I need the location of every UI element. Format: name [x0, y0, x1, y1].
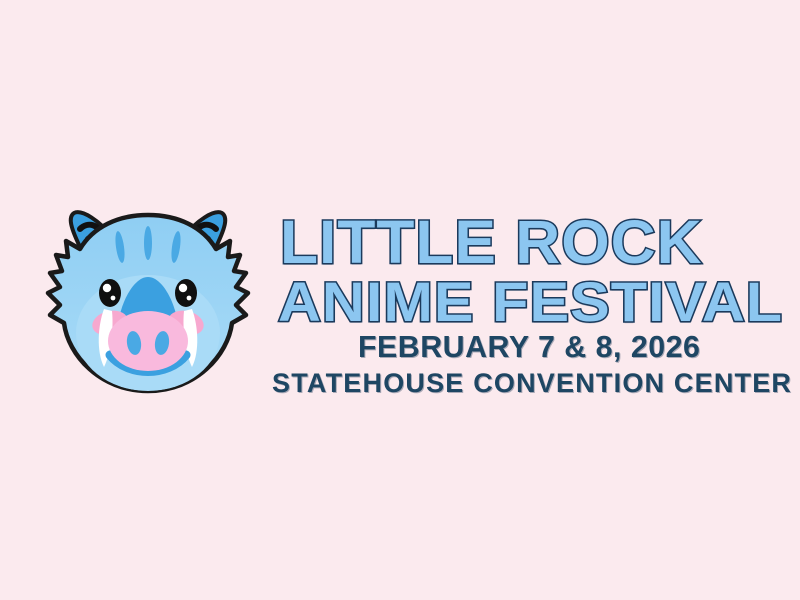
boar-mascot-head-icon	[38, 205, 258, 405]
event-banner: LITTLE ROCK ANIME FESTIVAL FEBRUARY 7 & …	[0, 0, 800, 600]
event-venue: STATEHOUSE CONVENTION CENTER	[272, 370, 792, 397]
boar-eye-left	[99, 279, 121, 307]
headline-line-2: ANIME FESTIVAL	[278, 274, 783, 330]
event-date: FEBRUARY 7 & 8, 2026	[358, 331, 700, 362]
boar-eye-right	[175, 279, 197, 307]
event-textblock: LITTLE ROCK ANIME FESTIVAL FEBRUARY 7 & …	[272, 212, 772, 402]
boar-snout	[108, 311, 188, 371]
headline-line-1: LITTLE ROCK	[280, 212, 703, 273]
boar-mascot-logo	[38, 205, 258, 405]
